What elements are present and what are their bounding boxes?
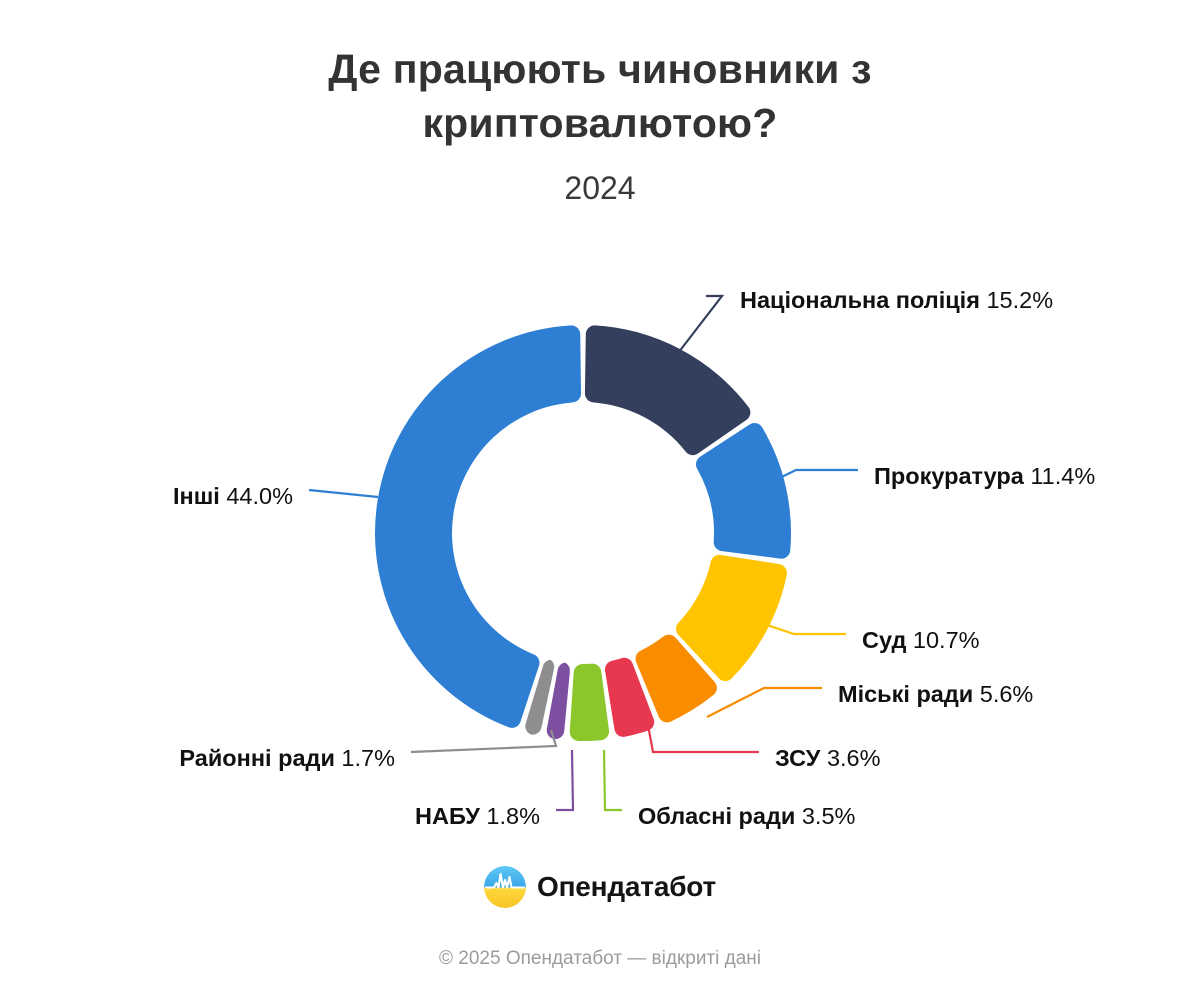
slice-label: ЗСУ 3.6% (775, 745, 881, 771)
slice-label-value: 11.4% (1030, 463, 1095, 489)
slice-label: НАБУ 1.8% (415, 803, 540, 829)
opendatabot-logo-icon (484, 866, 526, 908)
slice-label-name: Районні ради (179, 745, 341, 771)
leader-line (675, 296, 722, 357)
slice-label-value: 3.5% (802, 803, 856, 829)
copyright-text: © 2025 Опендатабот — відкриті дані (0, 948, 1200, 970)
slice-label: Районні ради 1.7% (179, 745, 395, 771)
slice-label: Обласні ради 3.5% (638, 803, 856, 829)
slice-label-name: Інші (173, 483, 226, 509)
slice-label-value: 1.7% (341, 745, 395, 771)
slice-label-value: 10.7% (913, 627, 980, 653)
slice-label-value: 15.2% (986, 287, 1053, 313)
slice-label: Інші 44.0% (173, 483, 293, 509)
slice-label-name: Міські ради (838, 681, 980, 707)
donut-chart[interactable]: Національна поліція 15.2%Прокуратура 11.… (0, 0, 1200, 1000)
donut-slices (375, 325, 791, 741)
leader-line (604, 750, 622, 810)
brand-name: Опендатабот (537, 871, 716, 903)
slice-label-name: Суд (862, 627, 913, 653)
slice-label: Суд 10.7% (862, 627, 980, 653)
slice-label-name: НАБУ (415, 803, 486, 829)
slice-label: Прокуратура 11.4% (874, 463, 1095, 489)
donut-slice[interactable] (570, 664, 609, 741)
logo-svg (484, 866, 526, 908)
slice-label-name: Обласні ради (638, 803, 802, 829)
leader-line (707, 688, 822, 717)
chart-page: Де працюють чиновники з криптовалютою? 2… (0, 0, 1200, 1000)
slice-label-name: Національна поліція (740, 287, 986, 313)
leader-line (647, 720, 759, 752)
donut-chart-region: Національна поліція 15.2%Прокуратура 11.… (0, 0, 1200, 1000)
brand-footer: Опендатабот (0, 866, 1200, 908)
slice-label-value: 5.6% (980, 681, 1034, 707)
donut-slice[interactable] (585, 325, 750, 455)
slice-label-name: Прокуратура (874, 463, 1030, 489)
slice-label-name: ЗСУ (775, 745, 827, 771)
slice-label-value: 3.6% (827, 745, 881, 771)
leader-line (556, 750, 573, 810)
slice-label-value: 44.0% (226, 483, 293, 509)
slice-label: Національна поліція 15.2% (740, 287, 1053, 313)
slice-label-value: 1.8% (486, 803, 540, 829)
leader-line (309, 490, 378, 497)
slice-label: Міські ради 5.6% (838, 681, 1033, 707)
